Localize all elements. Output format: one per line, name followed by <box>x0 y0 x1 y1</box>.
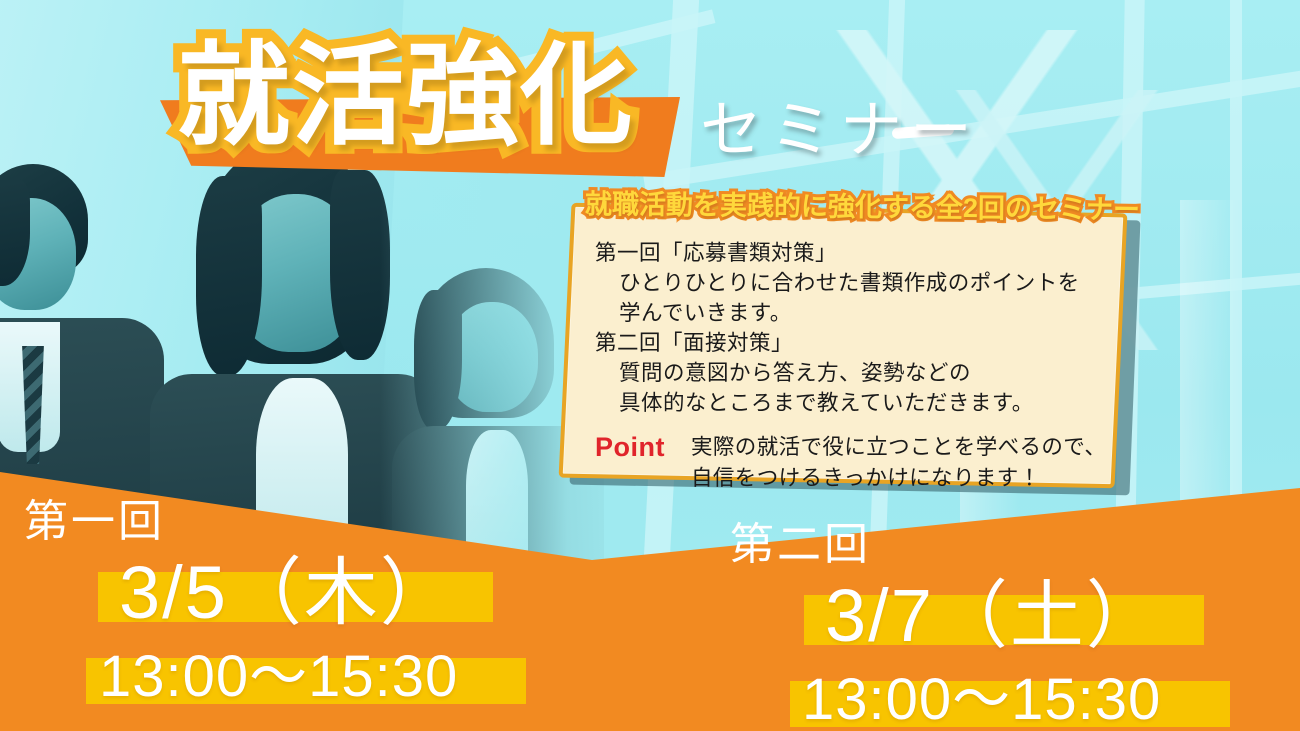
session2-desc-line1: 質問の意図から答え方、姿勢などの <box>595 358 1099 388</box>
point-line1: 実際の就活で役に立つことを学べるので、 <box>691 432 1106 463</box>
session2-heading: 第二回「面接対策」 <box>595 328 1099 358</box>
session2-ordinal: 第二回 <box>730 523 1162 567</box>
page-subtitle: セミナー <box>700 100 980 162</box>
page-title: 就活強化 <box>178 40 634 152</box>
seminar-poster: 就活強化 セミナー 第一回「応募書類対策」 ひとりひとりに合わせた書類作成のポイ… <box>0 0 1300 731</box>
session1-date-row: 3/5（木） <box>24 550 458 636</box>
info-card: 第一回「応募書類対策」 ひとりひとりに合わせた書類作成のポイントを 学んでいきま… <box>559 203 1128 488</box>
session2-date: 3/7（土） <box>730 573 1162 659</box>
point-body: 実際の就活で役に立つことを学べるので、 自信をつけるきっかけになります！ <box>691 432 1106 494</box>
session1-heading: 第一回「応募書類対策」 <box>595 238 1099 268</box>
point-callout: Point 実際の就活で役に立つことを学べるので、 自信をつけるきっかけになりま… <box>595 432 1099 494</box>
session1-desc-line2: 学んでいきます。 <box>595 298 1099 328</box>
card-headline-banner: 就職活動を実践的に強化する全2回のセミナー <box>585 191 1140 224</box>
session1-time-row: 13:00〜15:30 <box>24 642 458 712</box>
info-card-content: 第一回「応募書類対策」 ひとりひとりに合わせた書類作成のポイントを 学んでいきま… <box>569 212 1117 479</box>
session-block-2: 第二回 3/7（土） 13:00〜15:30 <box>730 523 1162 731</box>
point-label: Point <box>595 432 691 462</box>
session2-time-row: 13:00〜15:30 <box>730 665 1162 731</box>
session1-desc-line1: ひとりひとりに合わせた書類作成のポイントを <box>595 268 1099 298</box>
glass-reflection <box>1180 200 1240 540</box>
session1-date: 3/5（木） <box>24 550 458 636</box>
session2-time: 13:00〜15:30 <box>730 665 1162 731</box>
session2-desc-line2: 具体的なところまで教えていただきます。 <box>595 388 1099 418</box>
session1-time: 13:00〜15:30 <box>24 642 458 712</box>
session-block-1: 第一回 3/5（木） 13:00〜15:30 <box>24 500 458 712</box>
session1-ordinal: 第一回 <box>24 500 458 544</box>
point-line2: 自信をつけるきっかけになります！ <box>691 463 1106 494</box>
session2-date-row: 3/7（土） <box>730 573 1162 659</box>
